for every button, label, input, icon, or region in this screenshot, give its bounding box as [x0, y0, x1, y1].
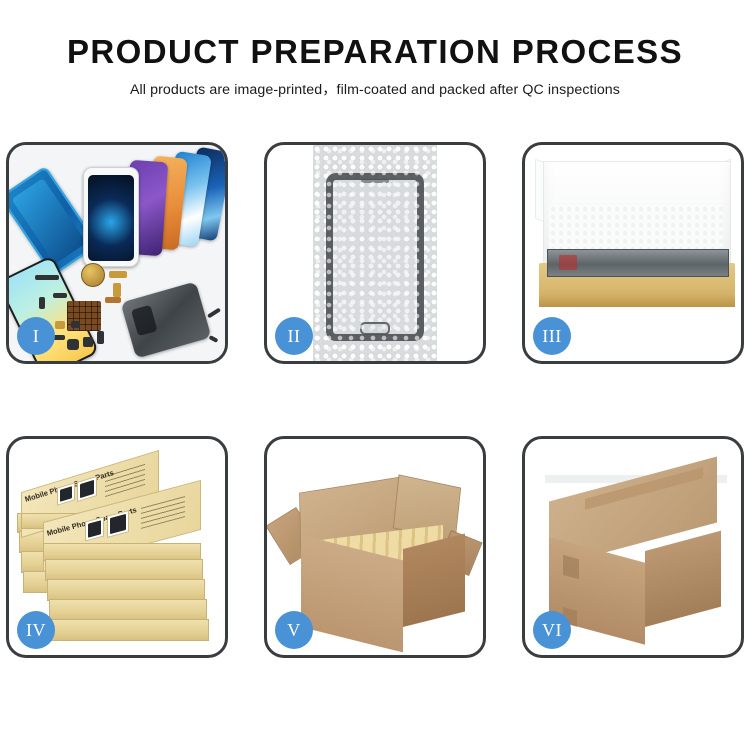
- part-icon-4: [53, 293, 67, 298]
- step-badge-1: I: [17, 317, 55, 355]
- product-preparation-infographic: PRODUCT PREPARATION PROCESS All products…: [0, 0, 750, 750]
- step-badge-2: II: [275, 317, 313, 355]
- part-icon-11: [55, 321, 65, 329]
- step-badge-3: III: [533, 317, 571, 355]
- step-badge-6: VI: [533, 611, 571, 649]
- part-icon-5: [39, 297, 45, 309]
- step-panel-5[interactable]: V: [264, 436, 486, 658]
- step-panel-1[interactable]: I: [6, 142, 228, 364]
- bubble-wrap-graphic: [313, 145, 437, 361]
- step-panel-4[interactable]: Mobile Phone Spare Parts Mobile Phone Sp…: [6, 436, 228, 658]
- carton-side-face: [403, 534, 465, 627]
- sealed-carton-side: [645, 531, 721, 627]
- steps-grid: I II: [6, 142, 744, 658]
- part-icon-2: [109, 271, 127, 278]
- step-panel-6[interactable]: VI: [522, 436, 744, 658]
- step-badge-4: IV: [17, 611, 55, 649]
- part-icon-9: [83, 337, 93, 347]
- header: PRODUCT PREPARATION PROCESS All products…: [0, 0, 750, 99]
- carton-tab-1: [563, 555, 579, 579]
- part-icon-12: [71, 321, 80, 328]
- wrapped-screen-in-tray-graphic: [547, 249, 729, 277]
- part-icon-8: [67, 339, 79, 350]
- step-badge-5: V: [275, 611, 313, 649]
- page-title: PRODUCT PREPARATION PROCESS: [0, 34, 750, 70]
- part-icon-1: [35, 275, 59, 280]
- part-icon-10: [97, 331, 104, 344]
- page-subtitle: All products are image-printed，film-coat…: [0, 79, 750, 99]
- step-panel-2[interactable]: II: [264, 142, 486, 364]
- speaker-part-icon: [81, 263, 105, 287]
- part-icon-6: [105, 297, 121, 303]
- phone-graphic-2: [83, 167, 139, 267]
- step-panel-3[interactable]: III: [522, 142, 744, 364]
- part-icon-3: [113, 283, 121, 297]
